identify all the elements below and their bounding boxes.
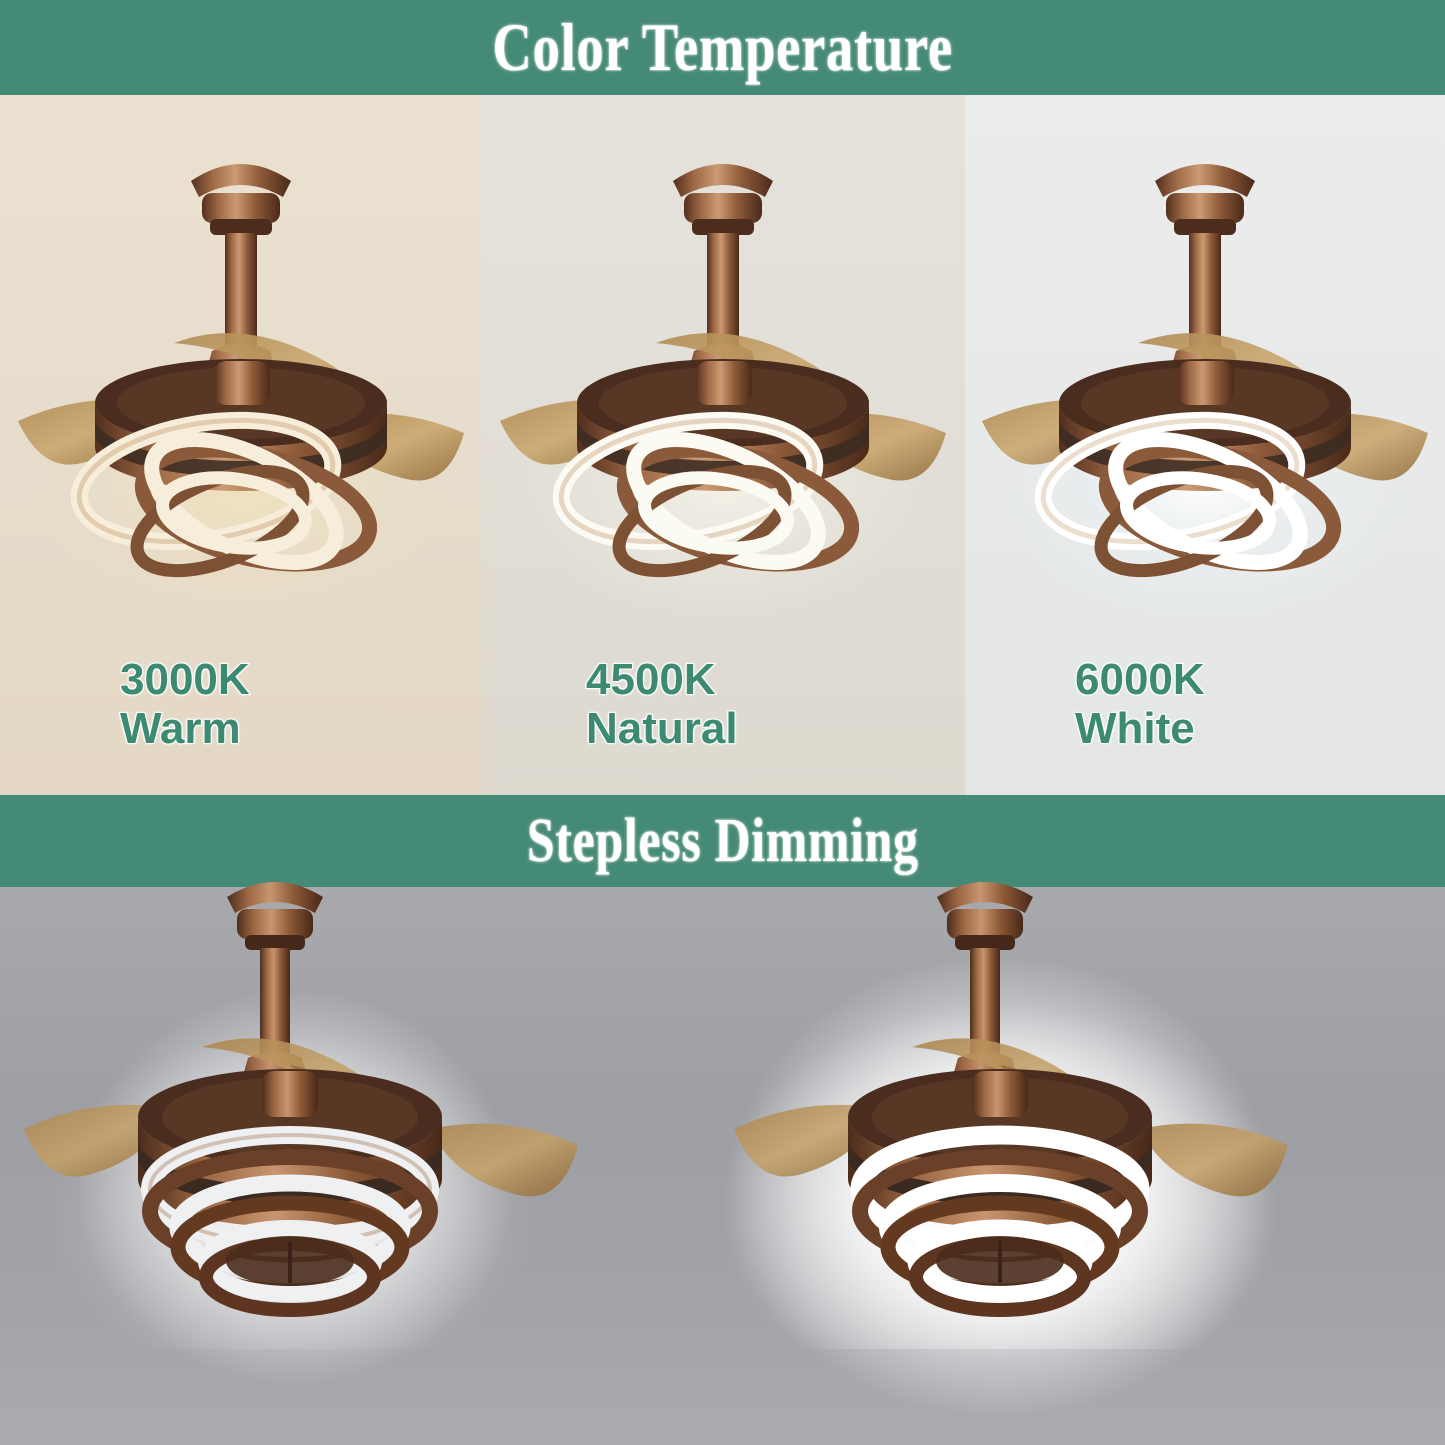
caption-natural: 4500K Natural [481,655,965,754]
ceiling-fan-illustration-warm [6,103,476,643]
caption-name-natural: Natural [586,704,965,753]
color-temperature-panel-warm: 3000K Warm [0,95,481,795]
banner-stepless-dimming: Stepless Dimming [0,795,1445,887]
caption-kelvin-white: 6000K [1075,655,1445,704]
fan-svg-warm [6,103,476,643]
color-temperature-strip: 3000K Warm [0,95,1445,795]
ceiling-fan-illustration-white [970,103,1440,643]
ceiling-fan-illustration-dim [0,879,610,1349]
fan-svg-dim [0,879,610,1349]
caption-white: 6000K White [965,655,1445,754]
caption-name-warm: Warm [120,704,481,753]
caption-warm: 3000K Warm [0,655,481,754]
banner-color-temperature: Color Temperature [0,0,1445,95]
fan-svg-natural [488,103,958,643]
stepless-dimming-stage: 10% [0,887,1445,1445]
ceiling-fan-illustration-bright [700,879,1320,1349]
fan-svg-white [970,103,1440,643]
banner-stepless-dimming-title: Stepless Dimming [527,806,919,877]
caption-name-white: White [1075,704,1445,753]
banner-color-temperature-title: Color Temperature [492,8,952,87]
fan-svg-bright [700,879,1320,1349]
color-temperature-panel-white: 6000K White [965,95,1445,795]
infographic-page: Color Temperature [0,0,1445,1445]
caption-kelvin-natural: 4500K [586,655,965,704]
color-temperature-panel-natural: 4500K Natural [481,95,965,795]
caption-kelvin-warm: 3000K [120,655,481,704]
ceiling-fan-illustration-natural [488,103,958,643]
